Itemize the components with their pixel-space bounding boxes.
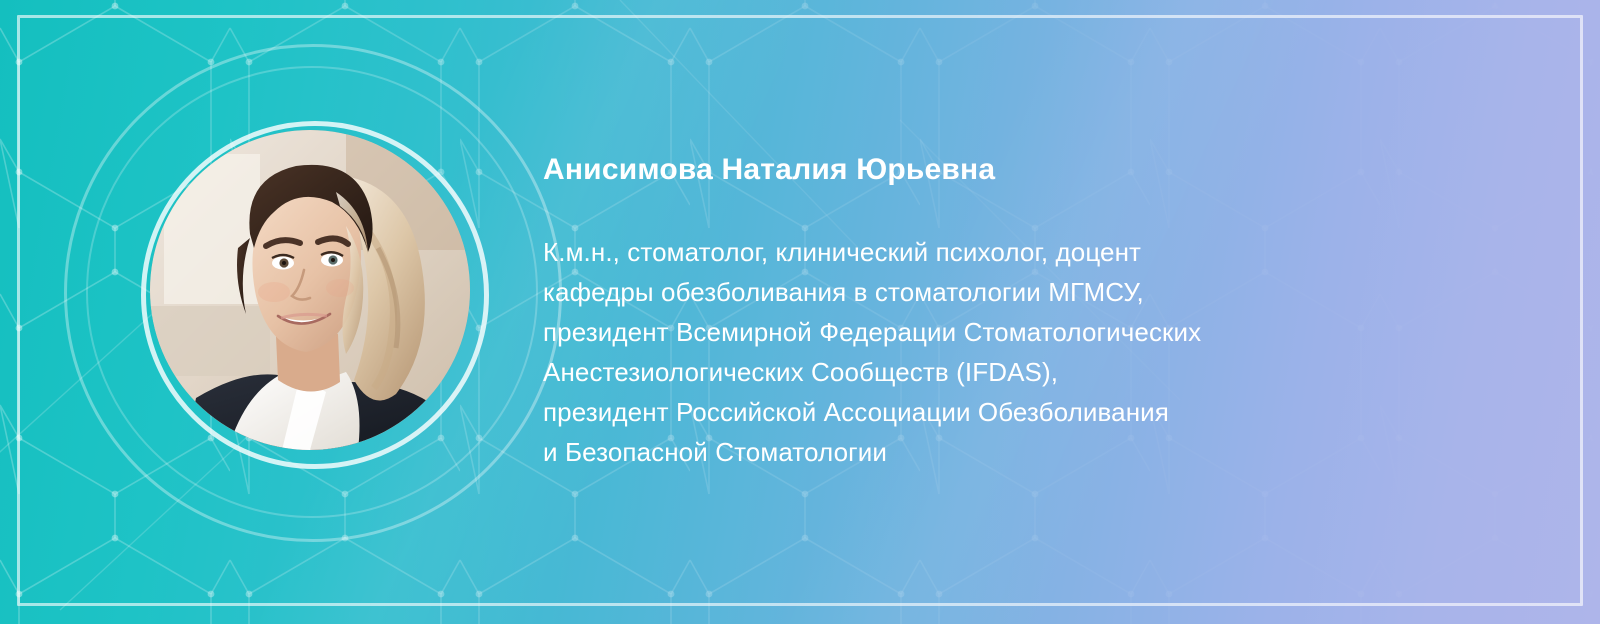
speaker-bio: К.м.н., стоматолог, клинический психолог… [543,232,1443,472]
bio-line: К.м.н., стоматолог, клинический психолог… [543,232,1443,272]
bio-line: президент Всемирной Федерации Стоматолог… [543,312,1443,352]
bio-line: президент Российской Ассоциации Обезболи… [543,392,1443,432]
speaker-name: Анисимова Наталия Юрьевна [543,152,1443,188]
bio-line: кафедры обезболивания в стоматологии МГМ… [543,272,1443,312]
portrait-inner-ring [141,121,489,469]
bio-line: и Безопасной Стоматологии [543,432,1443,472]
speaker-text-block: Анисимова Наталия Юрьевна К.м.н., стомат… [543,152,1443,472]
bio-line: Анестезиологических Сообществ (IFDAS), [543,352,1443,392]
speaker-portrait [150,130,470,450]
speaker-banner: Анисимова Наталия Юрьевна К.м.н., стомат… [0,0,1600,624]
